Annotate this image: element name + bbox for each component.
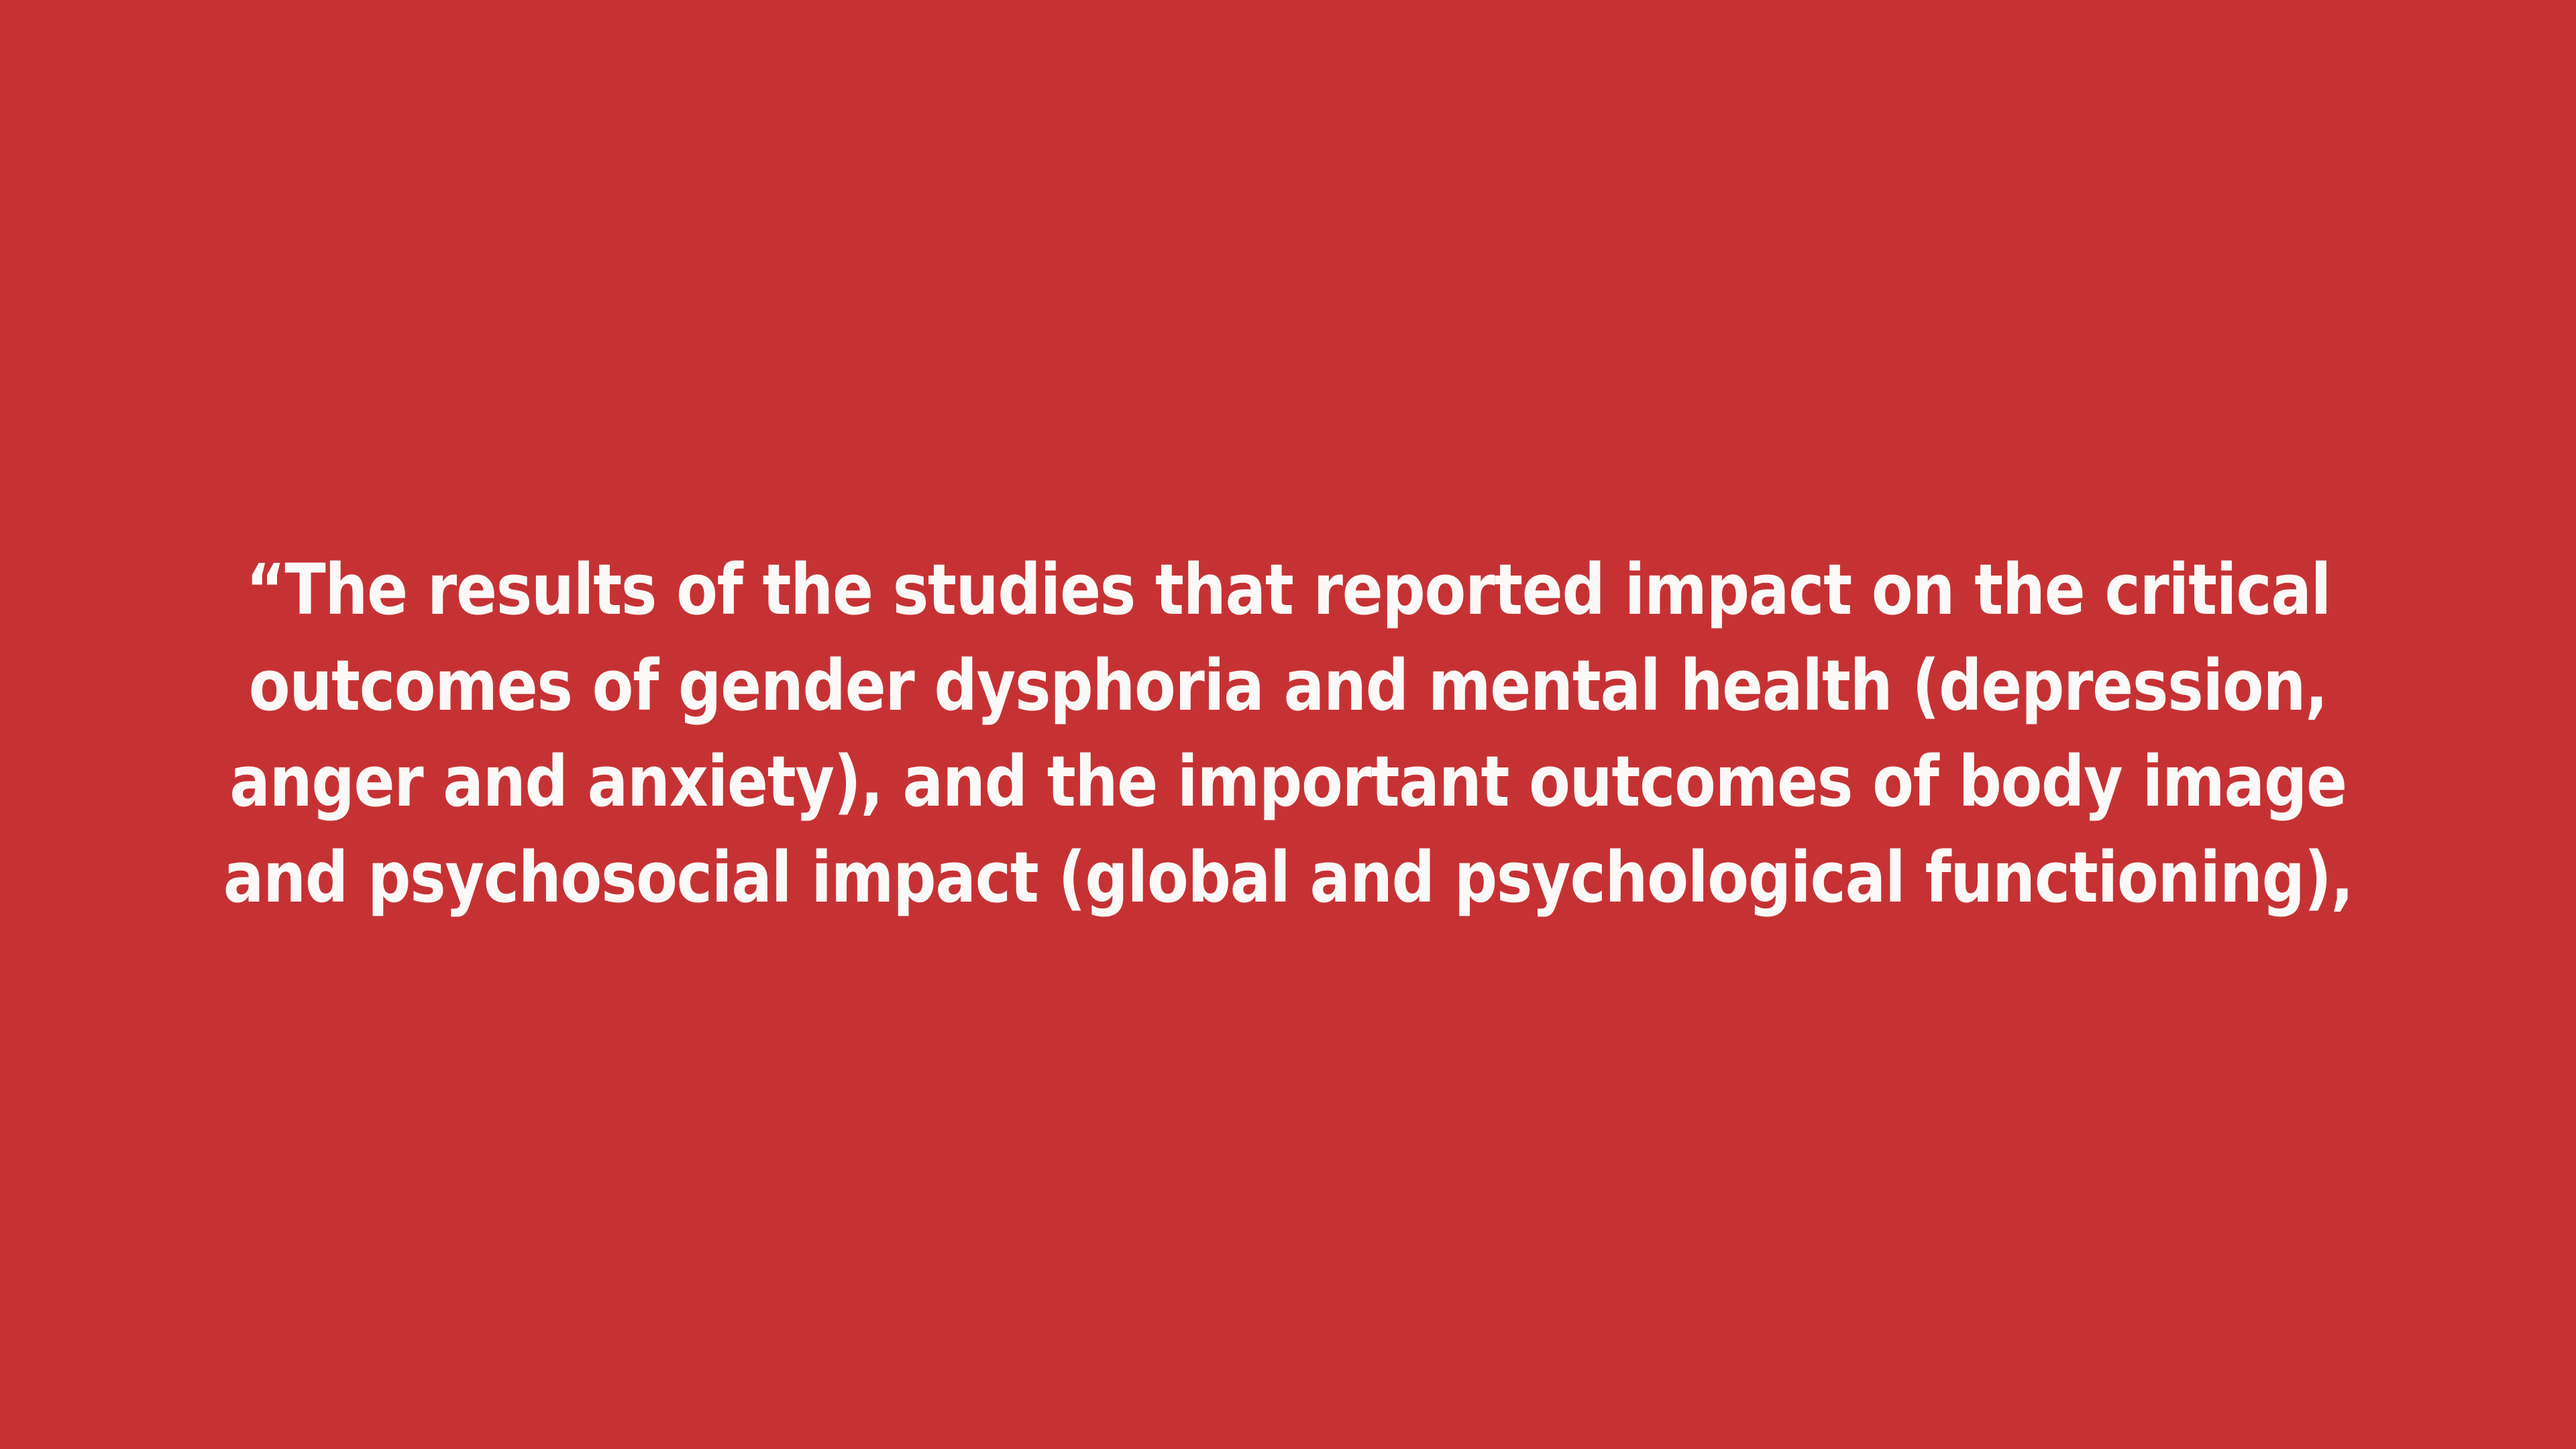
- quote-line-3: anger and anxiety), and the important ou…: [229, 734, 2346, 830]
- slide-canvas: “The results of the studies that reporte…: [0, 0, 2576, 1449]
- quote-line-2: outcomes of gender dysphoria and mental …: [249, 638, 2327, 734]
- quote-line-4: and psychosocial impact (global and psyc…: [223, 830, 2353, 926]
- pull-quote: “The results of the studies that reporte…: [27, 542, 2549, 926]
- quote-line-1: “The results of the studies that reporte…: [246, 542, 2330, 638]
